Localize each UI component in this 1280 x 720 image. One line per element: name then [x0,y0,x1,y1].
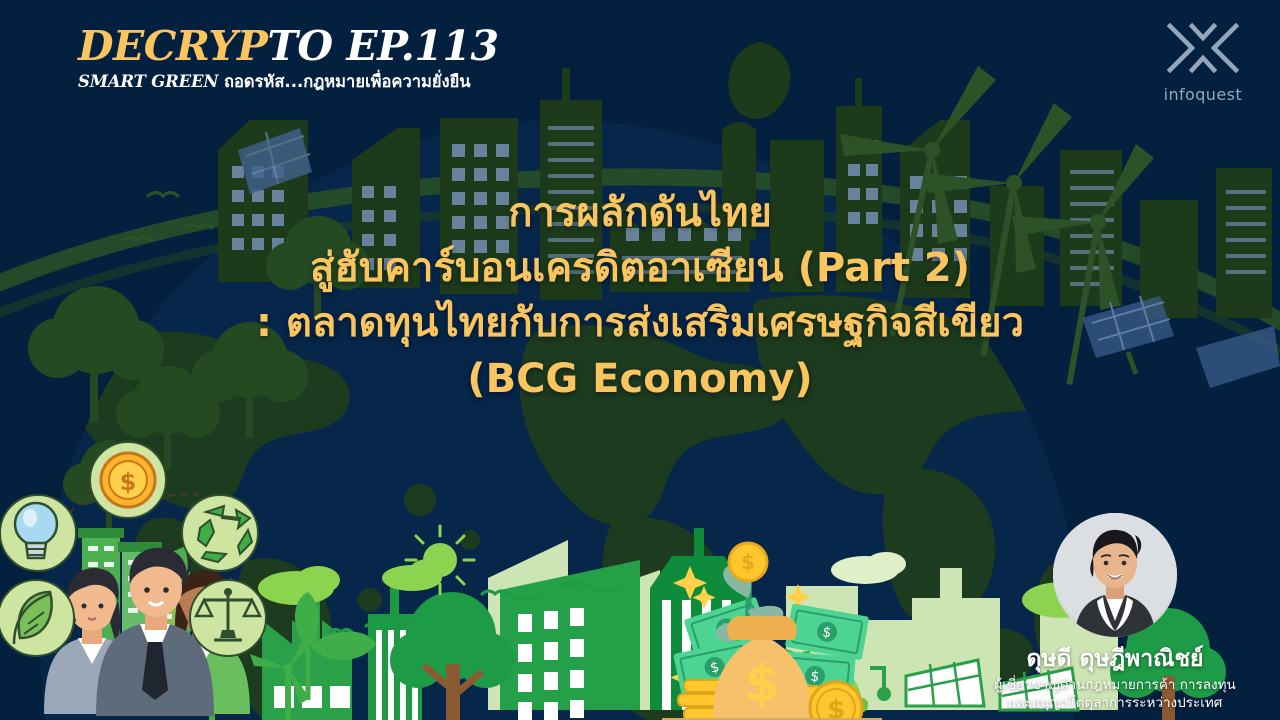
svg-text:$: $ [745,654,780,712]
svg-text:$: $ [810,669,820,686]
show-title-gold: DECRYP [78,22,267,70]
show-logo: DECRYPTO EP.113 SMART GREEN ถอดรหัส...กฎ… [78,26,499,91]
show-subtitle-en: SMART GREEN [78,72,218,91]
avatar [1053,513,1177,637]
show-subtitle: SMART GREEN ถอดรหัส...กฎหมายเพื่อความยั่… [78,74,499,91]
recycle-icon [182,495,258,571]
speaker-block: ดุษดี ดุษฎีพาณิชย์ ผู้เชี่ยวชาญด้านกฎหมา… [950,513,1280,712]
svg-text:$: $ [741,550,755,574]
show-title-white: TO EP.113 [267,22,498,70]
justice-scales-icon [190,580,266,656]
leaf-icon [0,580,74,656]
lightbulb-icon [0,495,76,571]
title-line-3: : ตลาดทุนไทยกับการส่งเสริมเศรษฐกิจสีเขีย… [24,296,1256,351]
speaker-role-line-1: ผู้เชี่ยวชาญด้านกฎหมายการค้า การลงทุน [950,676,1280,694]
show-title: DECRYPTO EP.113 [78,26,499,67]
coin-icon: $ [810,682,862,720]
episode-title: การผลักดันไทย สู่ฮับคาร์บอนเครดิตอาเซียน… [0,186,1280,407]
show-subtitle-th: ถอดรหัส...กฎหมายเพื่อความยั่งยืน [218,72,470,91]
speaker-name: ดุษดี ดุษฎีพาณิชย์ [950,646,1280,672]
infoquest-label: infoquest [1164,85,1242,104]
speaker-role: ผู้เชี่ยวชาญด้านกฎหมายการค้า การลงทุน แล… [950,676,1280,712]
title-line-2: สู่ฮับคาร์บอนเครดิตอาเซียน (Part 2) [24,241,1256,296]
coin-dollar-icon: $ [90,442,166,518]
speaker-role-line-2: และอนุญาโตตุลาการระหว่างประเทศ [950,694,1280,712]
infoquest-logo: infoquest [1164,22,1242,104]
title-line-1: การผลักดันไทย [24,186,1256,241]
svg-text:$: $ [827,695,845,720]
title-line-4: (BCG Economy) [24,352,1256,407]
speaker-portrait [1053,513,1177,637]
x-monogram-icon [1166,22,1240,80]
svg-text:$: $ [120,468,137,496]
